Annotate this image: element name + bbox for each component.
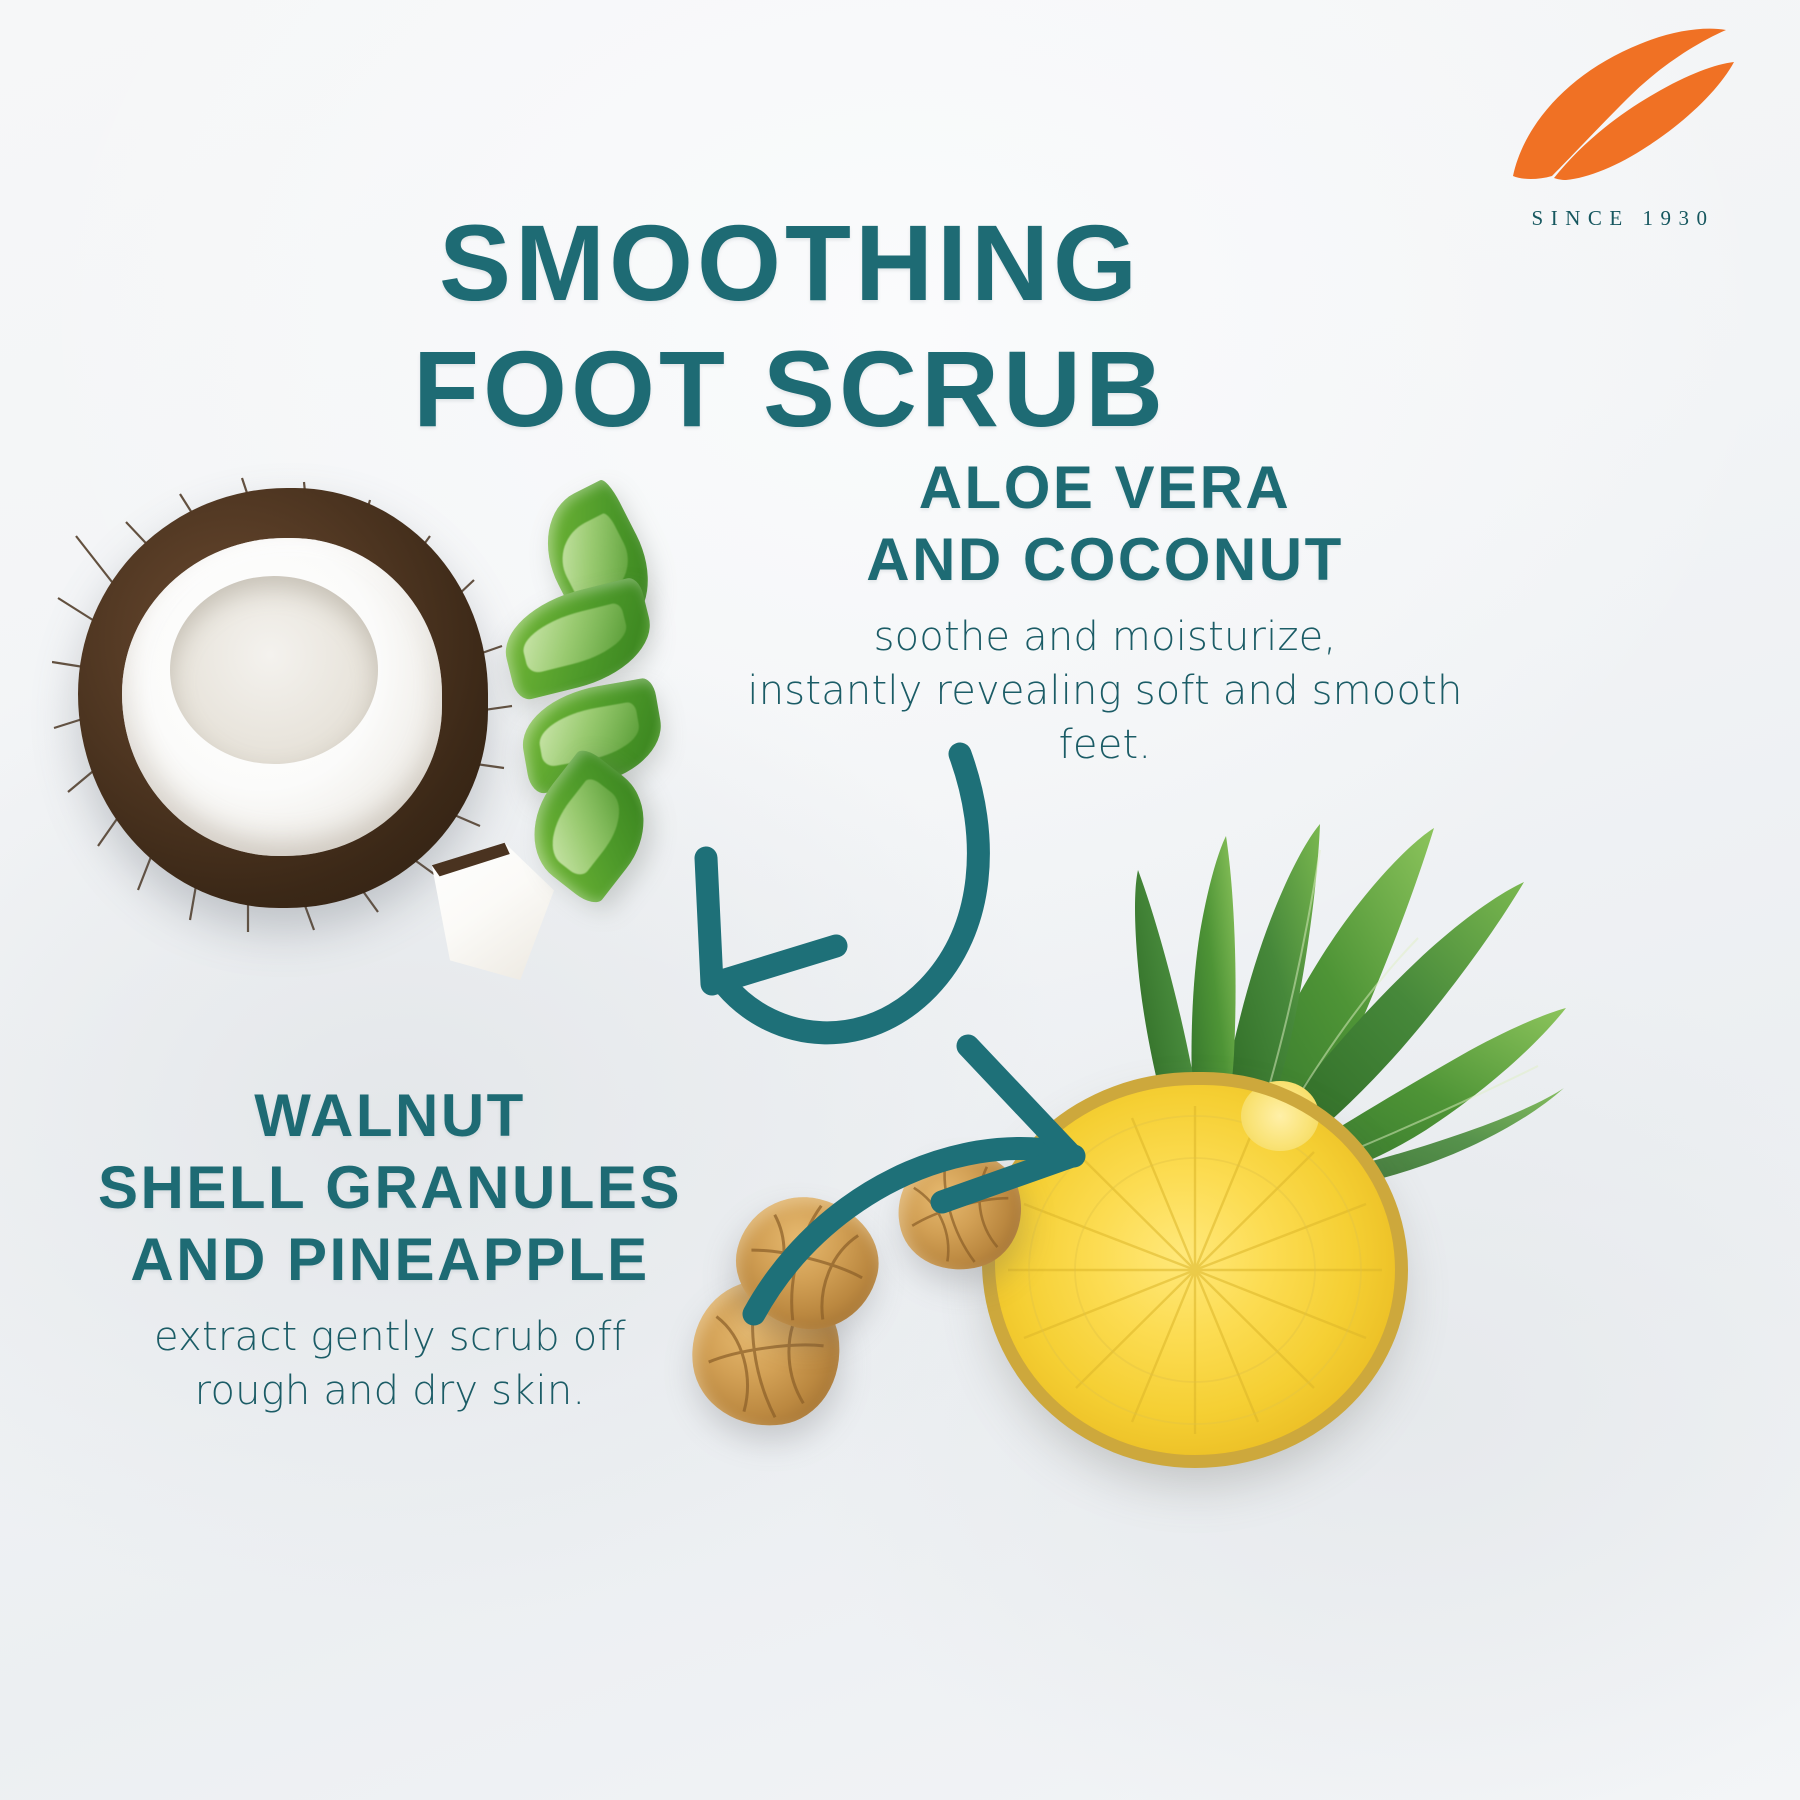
- product-infographic-poster: SINCE 1930 SMOOTHING FOOT SCRUB: [0, 0, 1800, 1800]
- heading-line-1: WALNUT: [35, 1080, 745, 1152]
- section-heading-walnut-pineapple: WALNUT SHELL GRANULES AND PINEAPPLE: [35, 1080, 745, 1296]
- brand-logo: SINCE 1930: [1498, 28, 1748, 238]
- body-line-2: rough and dry skin.: [35, 1364, 745, 1418]
- brand-tagline: SINCE 1930: [1498, 206, 1748, 231]
- pineapple-rind: [982, 1072, 1408, 1468]
- body-line-1: soothe and moisturize,: [735, 610, 1475, 664]
- section-body-walnut-pineapple: extract gently scrub off rough and dry s…: [35, 1310, 745, 1418]
- coconut-hollow: [170, 576, 378, 764]
- body-line-2: instantly revealing soft and smooth feet…: [735, 664, 1475, 772]
- flame-swoosh-logo-icon: [1508, 28, 1738, 180]
- heading-line-1: ALOE VERA: [735, 452, 1475, 524]
- title-line-1: SMOOTHING: [200, 200, 1380, 326]
- section-body-aloe-coconut: soothe and moisturize, instantly reveali…: [735, 610, 1475, 772]
- heading-line-2: SHELL GRANULES: [35, 1152, 745, 1224]
- page-title: SMOOTHING FOOT SCRUB: [200, 200, 1380, 452]
- title-line-2: FOOT SCRUB: [200, 326, 1380, 452]
- heading-line-2: AND COCONUT: [735, 524, 1475, 596]
- section-walnut-pineapple: WALNUT SHELL GRANULES AND PINEAPPLE extr…: [35, 1080, 745, 1418]
- section-aloe-coconut: ALOE VERA AND COCONUT soothe and moistur…: [735, 452, 1475, 772]
- heading-line-3: AND PINEAPPLE: [35, 1224, 745, 1296]
- pineapple-half-image: [980, 790, 1580, 1470]
- body-line-1: extract gently scrub off: [35, 1310, 745, 1364]
- section-heading-aloe-coconut: ALOE VERA AND COCONUT: [735, 452, 1475, 596]
